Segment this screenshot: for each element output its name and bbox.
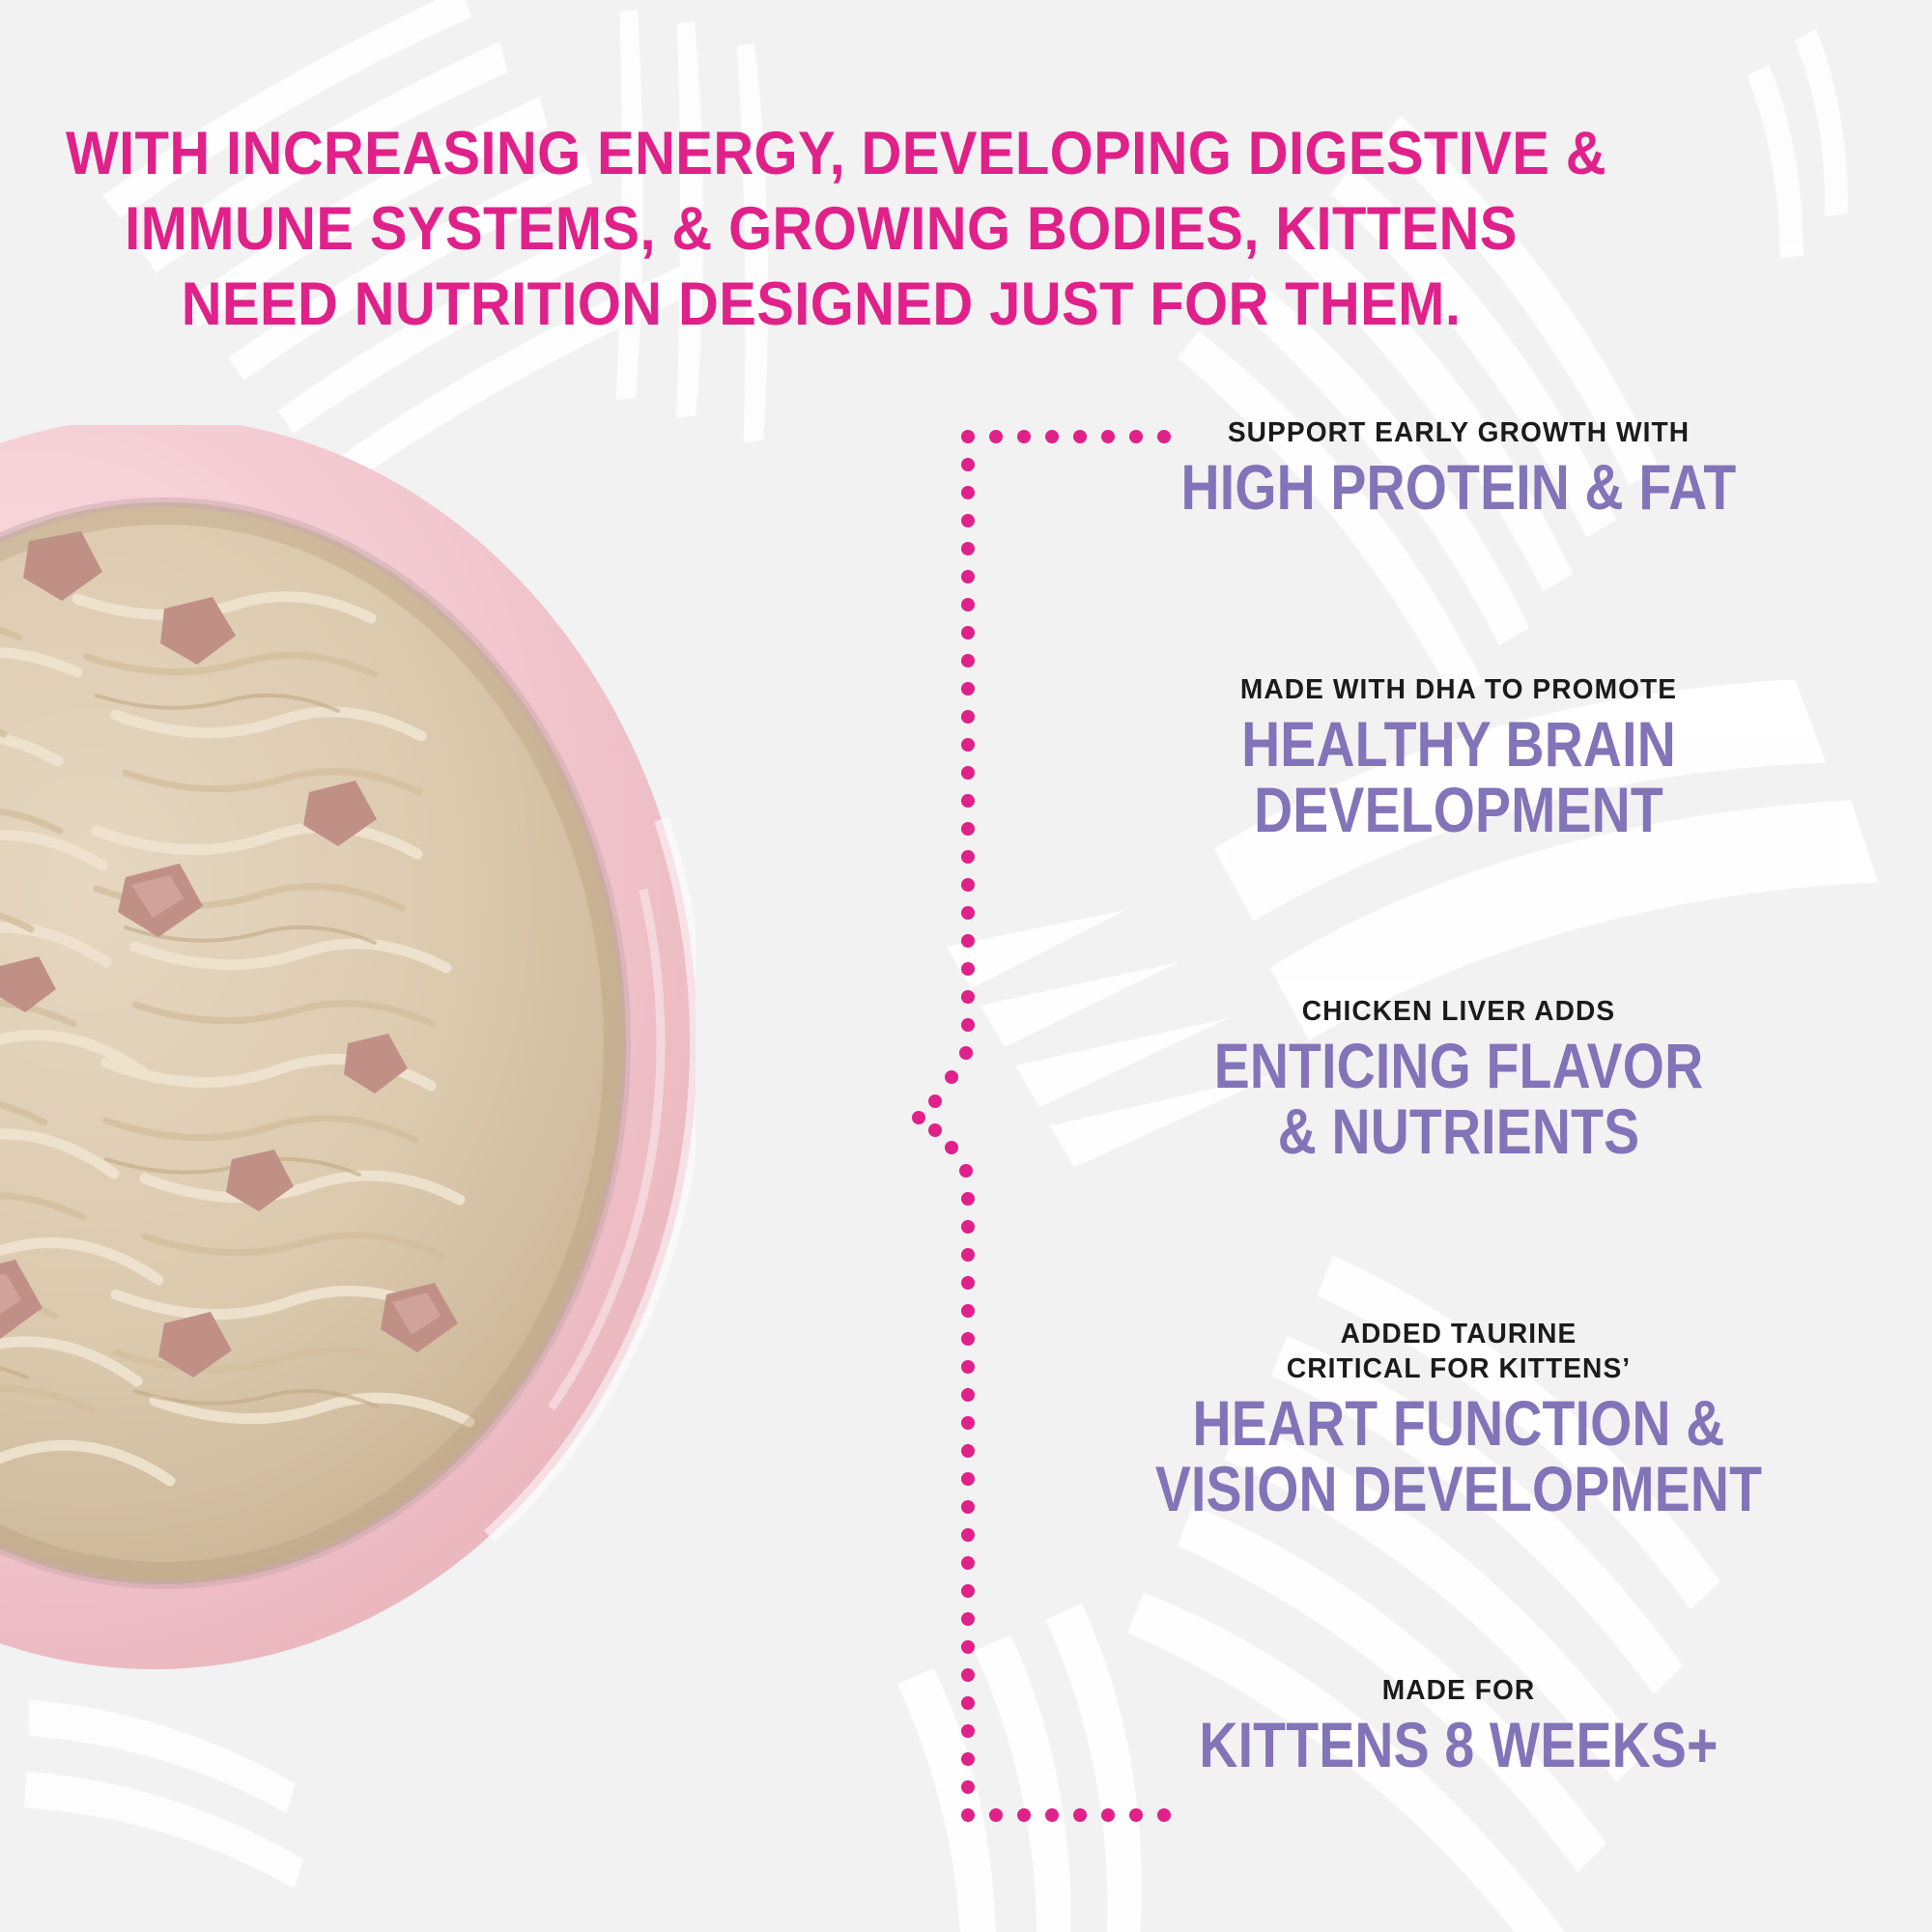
benefit-headline: ENTICING FLAVOR & NUTRIENTS [1094, 1033, 1824, 1164]
headline-line-2: IMMUNE SYSTEMS, & GROWING BODIES, KITTEN… [66, 191, 1577, 267]
benefit-caption: SUPPORT EARLY GROWTH WITH [1037, 415, 1881, 450]
benefit-caption: CHICKEN LIVER ADDS [1037, 994, 1881, 1029]
product-bowl-image [0, 425, 696, 1681]
benefits-list: SUPPORT EARLY GROWTH WITH HIGH PROTEIN &… [1024, 415, 1893, 1777]
benefit-item-heart-vision: ADDED TAURINE CRITICAL FOR KITTENS’ HEAR… [1024, 1317, 1893, 1521]
benefit-item-high-protein-fat: SUPPORT EARLY GROWTH WITH HIGH PROTEIN &… [1024, 415, 1893, 520]
benefit-caption: ADDED TAURINE CRITICAL FOR KITTENS’ [1037, 1317, 1881, 1386]
benefit-item-enticing-flavor-nutrients: CHICKEN LIVER ADDS ENTICING FLAVOR & NUT… [1024, 994, 1893, 1164]
benefit-headline: HIGH PROTEIN & FAT [1094, 454, 1824, 520]
benefit-item-kittens-8-weeks: MADE FOR KITTENS 8 WEEKS+ [1024, 1673, 1893, 1777]
headline-line-1: WITH INCREASING ENERGY, DEVELOPING DIGES… [66, 116, 1577, 191]
benefit-item-healthy-brain-development: MADE WITH DHA TO PROMOTE HEALTHY BRAIN D… [1024, 672, 1893, 842]
benefit-caption: MADE FOR [1037, 1673, 1881, 1708]
benefit-caption: MADE WITH DHA TO PROMOTE [1037, 672, 1881, 707]
headline-block: WITH INCREASING ENERGY, DEVELOPING DIGES… [0, 116, 1642, 342]
benefit-headline: KITTENS 8 WEEKS+ [1094, 1712, 1824, 1777]
benefit-headline: HEALTHY BRAIN DEVELOPMENT [1094, 711, 1824, 842]
benefit-headline: HEART FUNCTION & VISION DEVELOPMENT [1094, 1390, 1824, 1521]
headline-line-3: NEED NUTRITION DESIGNED JUST FOR THEM. [66, 267, 1577, 342]
